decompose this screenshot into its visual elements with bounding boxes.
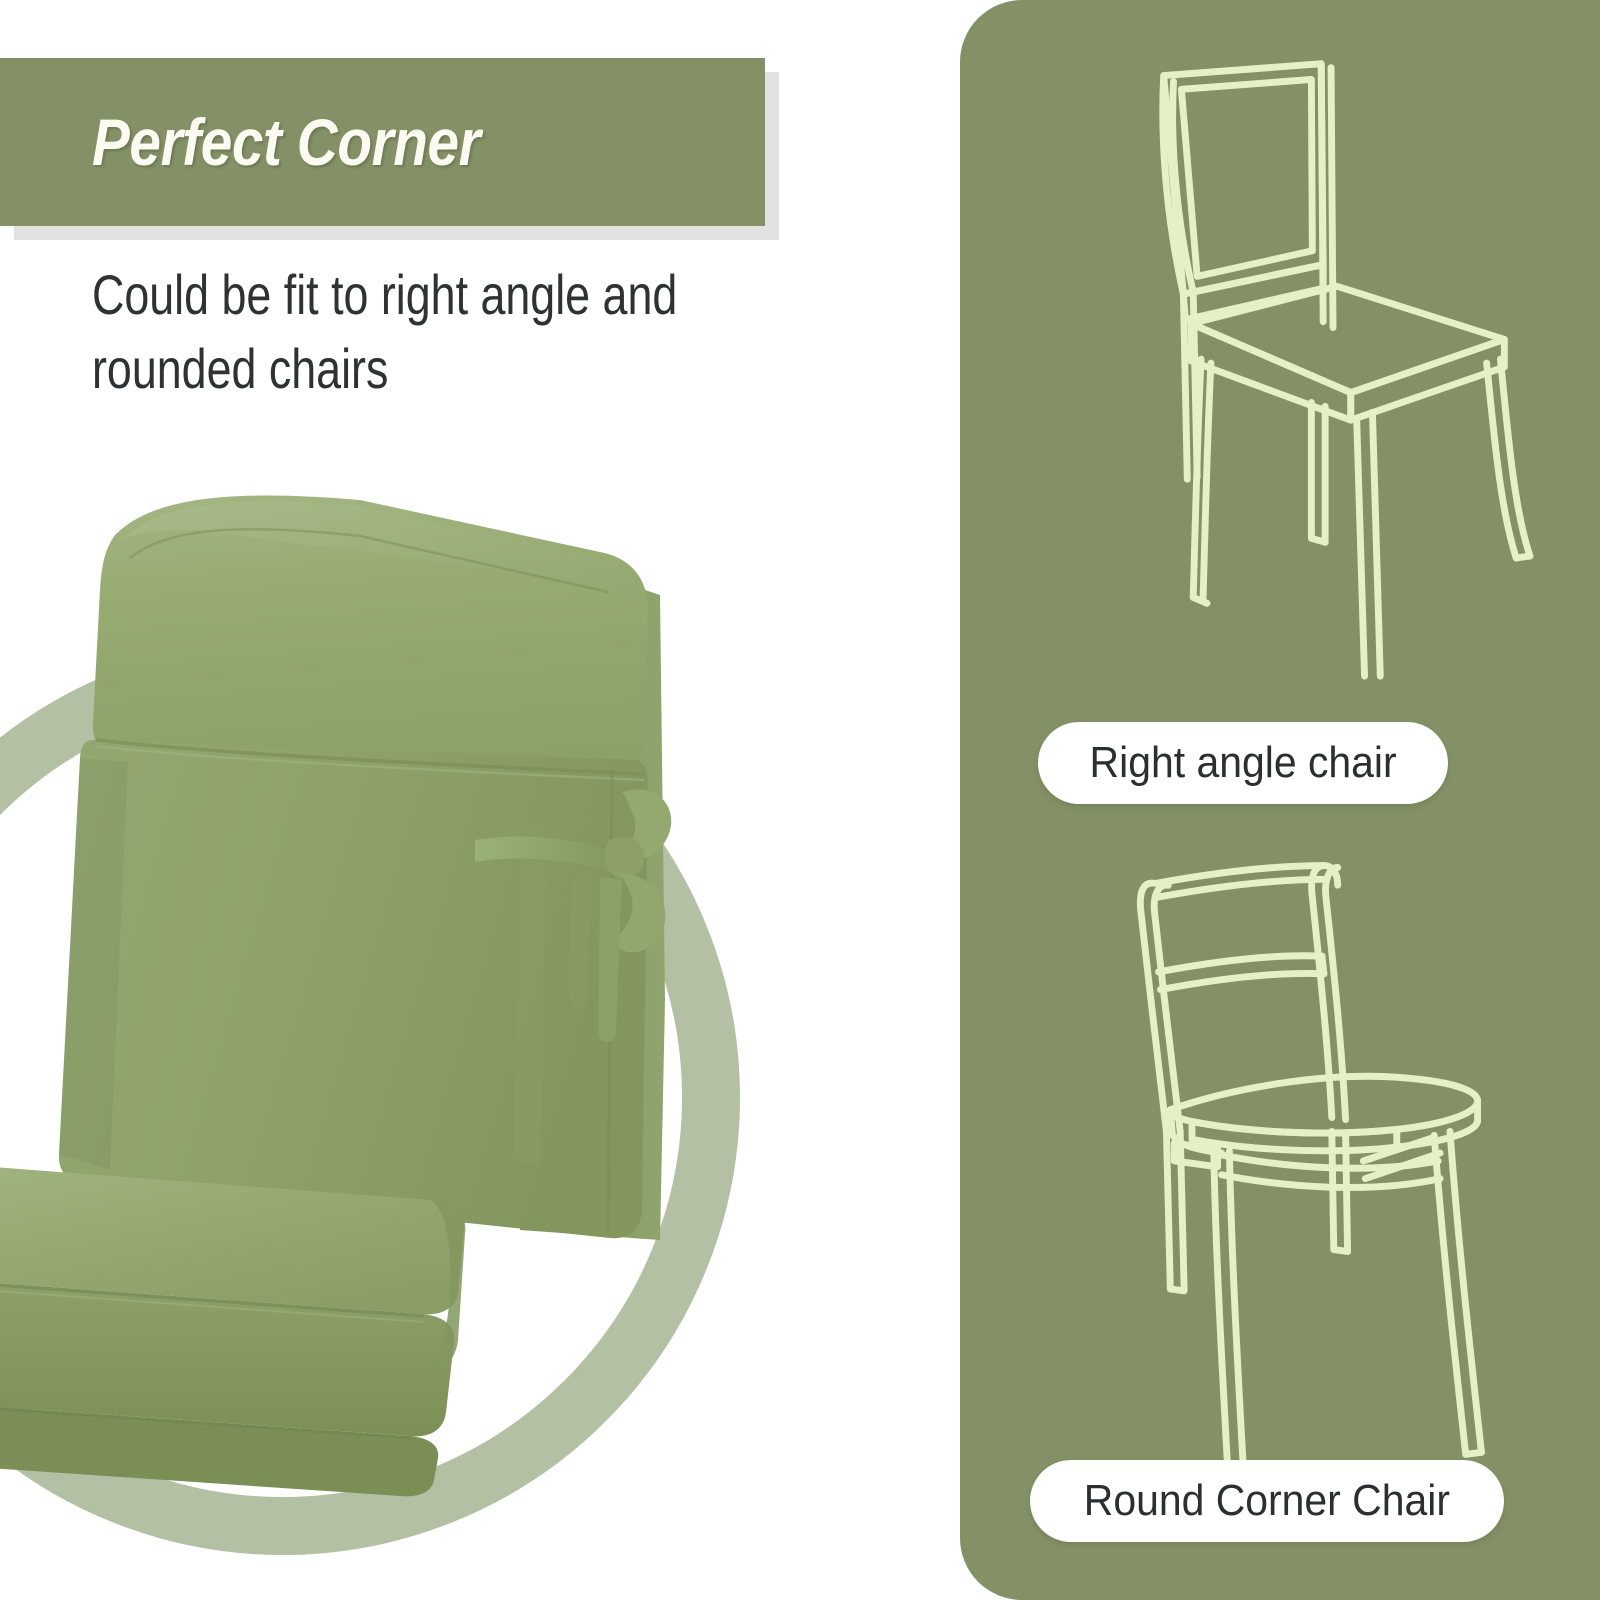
cushion-back-panel [59, 495, 665, 1240]
label-right-angle-chair: Right angle chair [1038, 722, 1448, 804]
page-subtitle: Could be fit to right angle and rounded … [92, 258, 756, 407]
infographic-canvas: Perfect Corner Could be fit to right ang… [0, 0, 1600, 1600]
label-right-angle-chair-text: Right angle chair [1090, 738, 1397, 788]
round-corner-chair-icon [1050, 836, 1590, 1476]
title-banner-bar: Perfect Corner [0, 58, 765, 226]
cushion-seat-panel [0, 1160, 465, 1496]
left-content-column: Perfect Corner Could be fit to right ang… [0, 0, 960, 1600]
page-title: Perfect Corner [92, 104, 480, 180]
cushion-back-face [59, 740, 648, 1238]
title-banner: Perfect Corner [0, 58, 765, 226]
right-angle-chair-icon [1065, 46, 1600, 686]
label-round-corner-chair: Round Corner Chair [1030, 1460, 1504, 1542]
label-round-corner-chair-text: Round Corner Chair [1084, 1476, 1450, 1526]
product-image-cushion [0, 440, 720, 1500]
